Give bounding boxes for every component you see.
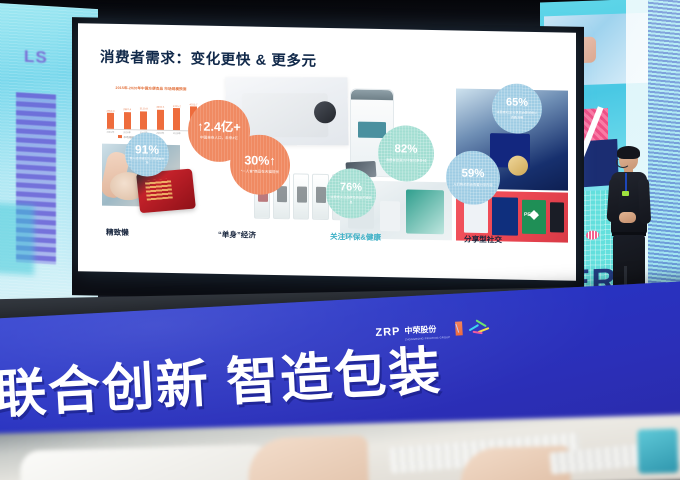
cup-lid: [351, 89, 393, 100]
stat-value: 65%: [506, 98, 528, 109]
can: [293, 173, 309, 219]
stat-bubble-65: 65% 消费者社交分享后会影响他人消费决策: [492, 83, 542, 134]
category-label-refined-lazy: 精致懒: [106, 227, 129, 238]
shelf-item: [492, 197, 518, 235]
chart-bar-group: 3705.2: [172, 100, 181, 130]
stat-value: 76%: [340, 183, 362, 194]
cup-label: [358, 122, 386, 139]
presentation-screen: 消费者需求：变化更快 & 更多元 2015年-2020年中国方便食品 市场规模预…: [78, 23, 576, 281]
shelf-item: [550, 202, 564, 232]
chart-bar: [107, 113, 114, 129]
product-bottle: [380, 201, 400, 231]
led-left-teal-patch: [0, 203, 34, 275]
stat-caption: “一人食”商品在天猫增长: [237, 169, 283, 175]
headset-mic-icon: [616, 157, 630, 168]
stat-caption: 消费者愿意为环保付更多钱: [382, 158, 431, 163]
speaker-hands: [619, 212, 636, 223]
berries: [248, 99, 311, 131]
category-label-single-economy: “单身”经济: [218, 229, 256, 241]
chart-bar-group: 2650.3: [106, 99, 115, 129]
dark-bowl: [314, 101, 336, 123]
market-size-bar-chart: 2015年-2020年中国方便食品 市场规模预测 2650.32887.4312…: [102, 86, 200, 140]
chart-bar-group: 3402.5: [156, 100, 165, 130]
product-green-pack: [406, 190, 444, 235]
led-right-noise-strip: [648, 0, 680, 315]
stat-bubble-30: 30%↑ “一人食”商品在天猫增长: [230, 134, 290, 195]
stat-value: 91%: [135, 144, 159, 156]
stat-bubble-76: 76% 消费者关注品牌及商品关键信息: [326, 168, 376, 219]
chart-title: 2015年-2020年中国方便食品 市场规模预测: [102, 86, 200, 93]
stat-value: 82%: [394, 144, 417, 156]
legend-swatch: [118, 135, 122, 138]
stat-value: ↑2.4亿+: [197, 121, 240, 134]
speaker-lanyard: [625, 173, 627, 193]
speaker-arm-right: [638, 178, 651, 225]
foreground-cup: [637, 429, 678, 474]
slide-title: 消费者需求：变化更快 & 更多元: [100, 46, 317, 71]
stat-caption: 消费者社交分享后会影响他人消费决策: [492, 111, 542, 120]
stage-scene: LS PERC 消费者需求：变化更快 & 更多元 2015年-2020年中国方便…: [0, 0, 680, 480]
stat-caption: 人们购买前会查看分享内容: [449, 182, 497, 187]
chart-bar: [157, 110, 164, 130]
gold-disc: [508, 155, 528, 175]
stat-bubble-82: 82% 消费者愿意为环保付更多钱: [378, 125, 434, 182]
chart-x-label: 2015年: [106, 130, 115, 134]
stat-bubble-59: 59% 人们购买前会查看分享内容: [446, 150, 500, 205]
led-left-glyph: LS: [24, 47, 52, 71]
stat-caption: 懒人经济催生的方便速食市场: [125, 157, 169, 165]
chart-bar: [173, 108, 180, 130]
chart-bar-group: 3120.8: [139, 99, 148, 129]
foreground-arm-left: [247, 435, 369, 480]
shelf-wordmark: PERC: [524, 212, 538, 218]
stat-caption: 消费者关注品牌及商品关键信息: [326, 195, 376, 204]
chart-bar: [124, 112, 131, 129]
speaker-badge: [622, 191, 629, 196]
stat-value: 59%: [461, 169, 484, 181]
chart-bar: [140, 111, 147, 130]
chart-bars: 2650.32887.43120.83402.53705.24013.7: [106, 99, 198, 132]
stat-value: 30%↑: [244, 155, 275, 168]
chart-bar-group: 2887.4: [123, 99, 132, 129]
stat-caption: 中国单身人口，未来4亿: [196, 135, 242, 141]
category-label-social-sharing: 分享型社交: [464, 234, 502, 246]
foreground-person-shirt: [20, 444, 281, 480]
stat-bubble-91: 91% 懒人经济催生的方便速食市场: [125, 132, 169, 177]
category-label-eco-health: 关注环保&健康: [330, 231, 381, 243]
chart-x-label: 2019年: [172, 131, 181, 135]
